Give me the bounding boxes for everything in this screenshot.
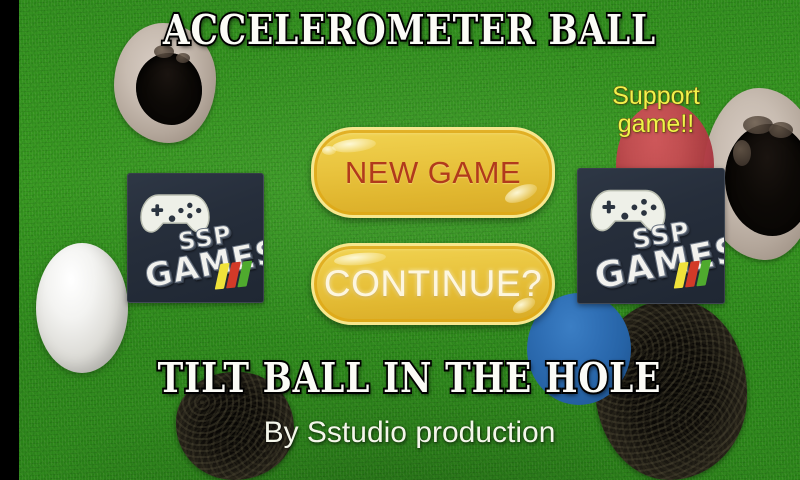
hole-gravel — [733, 140, 751, 166]
hole-gravel — [769, 122, 793, 138]
grass-playfield: SSP GAMES SSP GAMES — [19, 0, 800, 480]
new-game-label: NEW GAME — [345, 155, 521, 191]
ball-white — [36, 243, 128, 373]
continue-label: CONTINUE? — [324, 263, 542, 305]
hole-pit — [136, 53, 202, 125]
ssp-games-logo-left[interactable]: SSP GAMES — [127, 173, 264, 303]
game-menu-screen: SSP GAMES SSP GAMES — [0, 0, 800, 480]
continue-button[interactable]: CONTINUE? — [311, 243, 555, 325]
button-highlight — [331, 137, 376, 155]
hole-gravel — [176, 53, 190, 63]
hole-gravel — [154, 45, 174, 58]
hole-top-left — [114, 23, 216, 143]
hole-pit — [725, 124, 800, 236]
ssp-games-logo-right[interactable]: SSP GAMES — [577, 168, 725, 304]
studio-credit-text: By Sstudio production — [19, 416, 800, 450]
button-highlight — [322, 146, 336, 155]
letterbox-bar-left — [0, 0, 19, 480]
ssp-ribbon-mark — [215, 260, 255, 289]
new-game-button[interactable]: NEW GAME — [311, 127, 555, 218]
ssp-ribbon-mark — [674, 259, 714, 288]
support-game-label[interactable]: Support game!! — [591, 82, 721, 138]
